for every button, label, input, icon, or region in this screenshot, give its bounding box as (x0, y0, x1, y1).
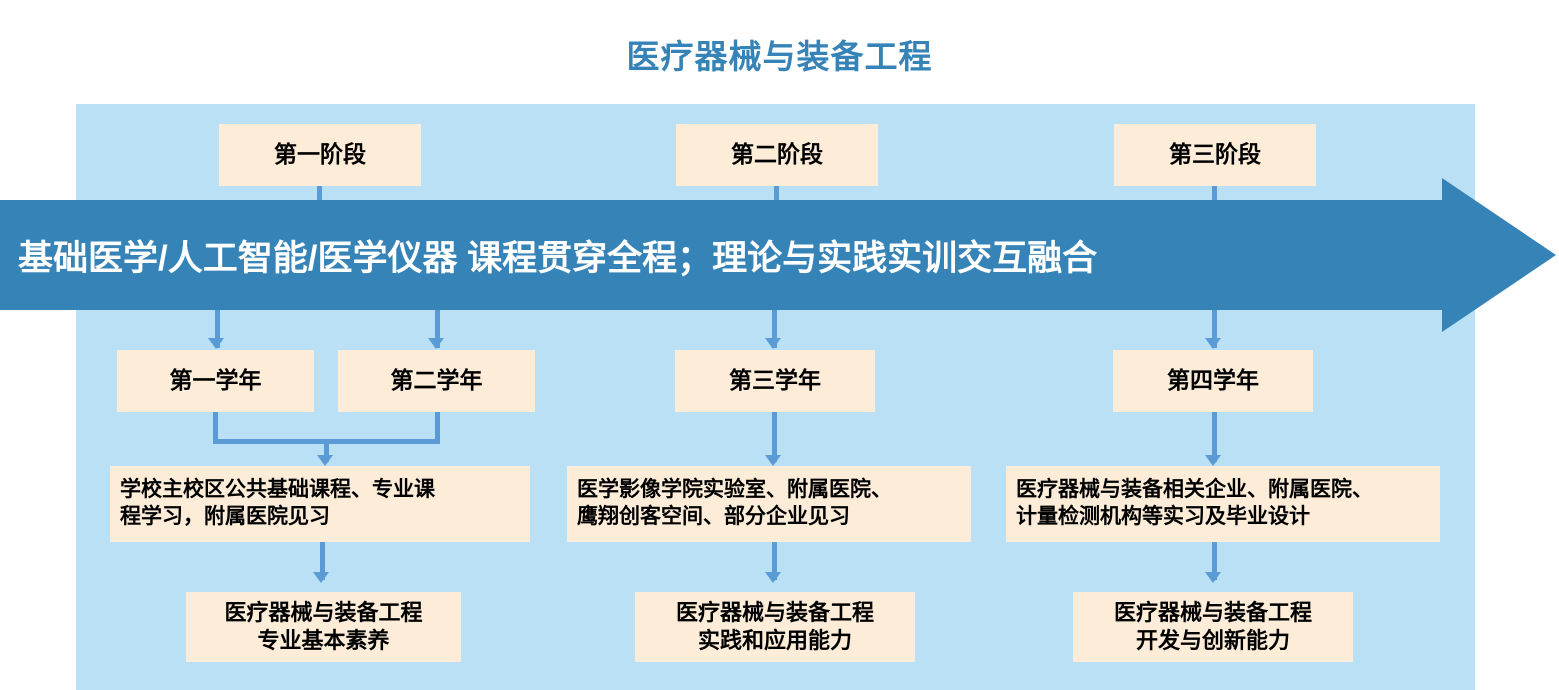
stage-box-2[interactable]: 第二阶段 (676, 124, 878, 186)
detail-line-1a: 学校主校区公共基础课程、专业课 (120, 477, 435, 504)
outcome-box-3[interactable]: 医疗器械与装备工程 开发与创新能力 (1073, 592, 1353, 662)
arrowhead-to-outcome1 (313, 572, 329, 583)
banner-arrow: 基础医学/人工智能/医学仪器 课程贯穿全程；理论与实践实训交互融合 (0, 178, 1559, 333)
detail-line-3b: 计量检测机构等实习及毕业设计 (1016, 504, 1373, 531)
year-box-4[interactable]: 第四学年 (1113, 350, 1313, 412)
banner-text: 基础医学/人工智能/医学仪器 课程贯穿全程；理论与实践实训交互融合 (0, 178, 1500, 333)
arrowhead-to-year3 (765, 338, 781, 349)
arrowhead-to-detail3 (1205, 455, 1221, 466)
diagram-canvas: 医疗器械与装备工程 第一阶段 第二阶段 第三阶段 基础医学/人工智能/医学仪器 … (0, 0, 1559, 690)
arrowhead-to-year4 (1205, 338, 1221, 349)
outcome-line-2b: 实践和应用能力 (676, 627, 874, 655)
page-title: 医疗器械与装备工程 (0, 30, 1559, 78)
outcome-line-1b: 专业基本素养 (224, 627, 422, 655)
outcome-line-3b: 开发与创新能力 (1114, 627, 1312, 655)
year-label-1: 第一学年 (170, 366, 262, 395)
arrowhead-to-year1 (208, 338, 224, 349)
arrowhead-to-detail2 (765, 455, 781, 466)
detail-line-2a: 医学影像学院实验室、附属医院、 (577, 477, 892, 504)
stage-label-2: 第二阶段 (731, 140, 823, 169)
stage-label-1: 第一阶段 (274, 140, 366, 169)
year-label-3: 第三学年 (729, 366, 821, 395)
detail-line-2b: 鹰翔创客空间、部分企业见习 (577, 504, 892, 531)
stage-box-3[interactable]: 第三阶段 (1114, 124, 1316, 186)
arrowhead-to-outcome3 (1205, 572, 1221, 583)
outcome-box-1[interactable]: 医疗器械与装备工程 专业基本素养 (186, 592, 461, 662)
year-box-3[interactable]: 第三学年 (675, 350, 875, 412)
detail-line-1b: 程学习，附属医院见习 (120, 504, 435, 531)
year-box-2[interactable]: 第二学年 (338, 350, 535, 412)
outcome-line-3a: 医疗器械与装备工程 (1114, 599, 1312, 627)
detail-line-3a: 医疗器械与装备相关企业、附属医院、 (1016, 477, 1373, 504)
detail-box-1[interactable]: 学校主校区公共基础课程、专业课 程学习，附属医院见习 (110, 466, 530, 542)
year-box-1[interactable]: 第一学年 (117, 350, 314, 412)
stage-label-3: 第三阶段 (1169, 140, 1261, 169)
year-label-4: 第四学年 (1167, 366, 1259, 395)
detail-box-3[interactable]: 医疗器械与装备相关企业、附属医院、 计量检测机构等实习及毕业设计 (1006, 466, 1440, 542)
arrowhead-to-detail1 (317, 455, 333, 466)
outcome-box-2[interactable]: 医疗器械与装备工程 实践和应用能力 (635, 592, 915, 662)
arrowhead-to-outcome2 (765, 572, 781, 583)
arrowhead-to-year2 (428, 338, 444, 349)
stage-box-1[interactable]: 第一阶段 (219, 124, 421, 186)
year-label-2: 第二学年 (391, 366, 483, 395)
outcome-line-1a: 医疗器械与装备工程 (224, 599, 422, 627)
outcome-line-2a: 医疗器械与装备工程 (676, 599, 874, 627)
detail-box-2[interactable]: 医学影像学院实验室、附属医院、 鹰翔创客空间、部分企业见习 (567, 466, 971, 542)
